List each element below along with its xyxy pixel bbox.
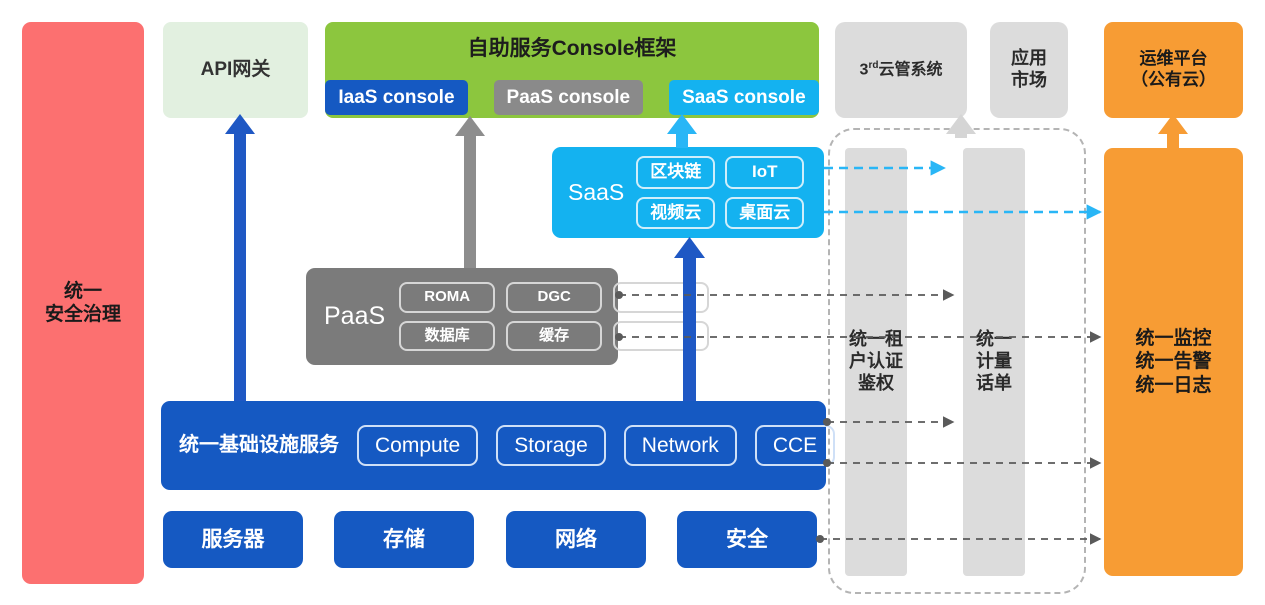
hardware-box-security[interactable]: 安全 [677, 511, 817, 568]
infra-item-network[interactable]: Network [624, 425, 737, 467]
saas-item-blockchain[interactable]: 区块链 [636, 156, 715, 189]
third-party-superscript: rd [868, 60, 878, 71]
security-governance-line1: 统一 [64, 280, 102, 303]
paas-item-roma[interactable]: ROMA [399, 282, 495, 312]
security-governance-line2: 安全治理 [45, 303, 121, 326]
saas-label: SaaS [568, 178, 624, 206]
architecture-diagram: 统一 安全治理 API网关 自助服务Console框架 IaaS console… [0, 0, 1265, 605]
unified-monitoring-panel[interactable]: 统一监控 统一告警 统一日志 [1104, 148, 1243, 576]
infra-item-cce[interactable]: CCE [755, 425, 835, 467]
saas-block[interactable]: SaaS 区块链 IoT 视频云 桌面云 [552, 147, 824, 238]
metering-line3: 话单 [976, 373, 1012, 395]
saas-console-chip[interactable]: SaaS console [669, 80, 819, 115]
paas-item-database[interactable]: 数据库 [399, 321, 495, 351]
console-framework-title: 自助服务Console框架 [468, 36, 677, 62]
infra-item-storage[interactable]: Storage [496, 425, 606, 467]
hardware-box-server[interactable]: 服务器 [163, 511, 303, 568]
arrow-saas-to-saas-console [667, 114, 697, 148]
paas-item-cache[interactable]: 缓存 [506, 321, 602, 351]
hardware-box-storage[interactable]: 存储 [334, 511, 474, 568]
ops-platform-line2: （公有云） [1131, 70, 1216, 91]
console-framework-box[interactable]: 自助服务Console框架 IaaS console PaaS console … [325, 22, 819, 118]
app-market-line2: 市场 [1011, 70, 1047, 92]
hardware-label-network: 网络 [555, 527, 597, 553]
paas-item-bigdata[interactable]: 大数据 [613, 321, 709, 351]
tenant-auth-line3: 鉴权 [858, 373, 894, 395]
monitoring-line1: 统一监控 [1135, 327, 1211, 350]
ops-platform-line1: 运维平台 [1140, 49, 1208, 70]
infra-item-compute[interactable]: Compute [357, 425, 478, 467]
paas-service-grid: ROMA DGC ModelArts 数据库 缓存 大数据 [399, 282, 709, 351]
app-market-line1: 应用 [1011, 48, 1047, 70]
metering-line2: 计量 [976, 351, 1012, 373]
hardware-box-network[interactable]: 网络 [506, 511, 646, 568]
paas-item-modelarts[interactable]: ModelArts [613, 282, 709, 312]
arrow-monitoring-to-ops-platform [1158, 114, 1188, 148]
unified-metering-column[interactable]: 统一 计量 话单 [963, 148, 1025, 576]
third-party-cloud-mgmt-box[interactable]: 3rd云管系统 [835, 22, 967, 118]
tenant-auth-line2: 户认证 [849, 351, 903, 373]
paas-item-dgc[interactable]: DGC [506, 282, 602, 312]
app-market-box[interactable]: 应用 市场 [990, 22, 1068, 118]
saas-item-iot[interactable]: IoT [725, 156, 804, 189]
arrow-paas-to-console [455, 116, 485, 268]
arrow-infra-to-api-gateway [225, 114, 255, 401]
api-gateway-label: API网关 [201, 58, 271, 81]
saas-service-grid: 区块链 IoT 视频云 桌面云 [636, 156, 804, 229]
api-gateway-box[interactable]: API网关 [163, 22, 308, 118]
third-party-label: 3rd云管系统 [860, 60, 943, 80]
hardware-label-storage: 存储 [383, 527, 425, 553]
paas-block[interactable]: PaaS ROMA DGC ModelArts 数据库 缓存 大数据 [306, 268, 618, 365]
hardware-label-server: 服务器 [202, 527, 265, 553]
saas-item-desktop-cloud[interactable]: 桌面云 [725, 197, 804, 230]
security-governance-panel[interactable]: 统一 安全治理 [22, 22, 144, 584]
metering-line1: 统一 [976, 329, 1012, 351]
paas-console-chip[interactable]: PaaS console [494, 80, 644, 115]
tenant-auth-line1: 统一租 [849, 329, 903, 351]
paas-label: PaaS [324, 301, 385, 332]
unified-infrastructure-bar[interactable]: 统一基础设施服务 Compute Storage Network CCE [161, 401, 826, 490]
monitoring-line3: 统一日志 [1135, 374, 1211, 397]
ops-platform-public-cloud-box[interactable]: 运维平台 （公有云） [1104, 22, 1243, 118]
infrastructure-label: 统一基础设施服务 [179, 433, 339, 457]
monitoring-line2: 统一告警 [1135, 350, 1211, 373]
saas-item-video-cloud[interactable]: 视频云 [636, 197, 715, 230]
iaas-console-chip[interactable]: IaaS console [325, 80, 467, 115]
console-chip-row: IaaS console PaaS console SaaS console [325, 80, 818, 115]
hardware-label-security: 安全 [726, 527, 768, 553]
unified-tenant-auth-column[interactable]: 统一租 户认证 鉴权 [845, 148, 907, 576]
